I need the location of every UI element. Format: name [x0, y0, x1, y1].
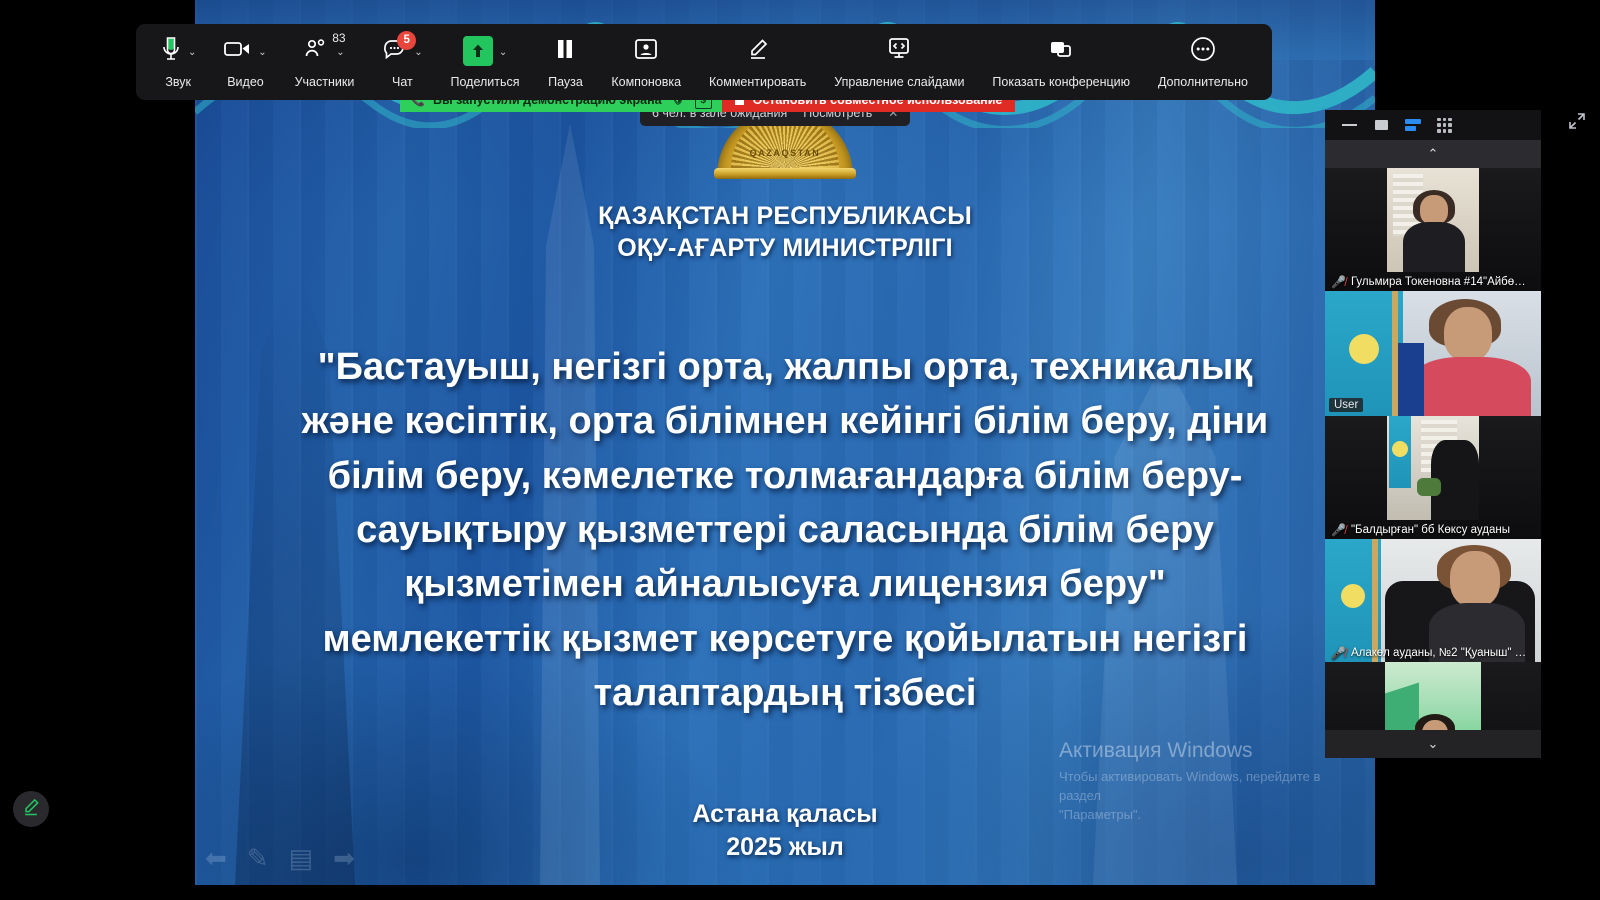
- mic-muted-icon: 🎤̸: [1331, 524, 1346, 536]
- toolbar-label: Дополнительно: [1158, 75, 1248, 89]
- next-arrow-icon: ➡: [333, 845, 355, 871]
- toolbar-item-pause[interactable]: Пауза: [541, 35, 589, 89]
- pause-icon[interactable]: [555, 38, 575, 65]
- toolbar-item-chat[interactable]: 5 ⌄ Чат: [376, 35, 428, 89]
- app-root: QAZAQSTAN ҚАЗАҚСТАН РЕСПУБЛИКАСЫ ОҚУ-АҒА…: [0, 0, 1600, 900]
- toolbar-item-video[interactable]: ⌄ Видео: [218, 35, 272, 89]
- self-user-tag: User: [1329, 398, 1363, 412]
- chevron-down-icon: ⌄: [1428, 736, 1439, 752]
- participant-name: 🎤̸ Гульмира Токеновна #14"Айбө…: [1325, 272, 1532, 291]
- toolbar-item-share[interactable]: ⌄ Поделиться: [445, 35, 526, 89]
- more-dots-icon[interactable]: [1190, 36, 1216, 67]
- maximize-button[interactable]: [1373, 118, 1389, 132]
- gallery-view-button[interactable]: [1437, 118, 1452, 133]
- camera-icon[interactable]: [224, 39, 252, 64]
- toolbar-label: Компоновка: [611, 75, 681, 89]
- chevron-down-icon[interactable]: ⌄: [258, 48, 266, 58]
- minimize-button[interactable]: [1341, 118, 1357, 132]
- prev-arrow-icon: ⬅: [205, 845, 227, 871]
- toolbar-label: Комментировать: [709, 75, 806, 89]
- participant-name: 🎤̸ Алакөл ауданы, №2 "Қуаныш" …: [1325, 643, 1532, 662]
- slide-title-line: сауықтыру қызметтері саласында білім бер…: [215, 503, 1355, 557]
- toolbar-label: Управление слайдами: [834, 75, 964, 89]
- participant-tile[interactable]: 🎤̸ Идрисова Жанылхан Балауса б…: [1325, 662, 1541, 730]
- participant-tile[interactable]: 🎤̸ Алакөл ауданы, №2 "Қуаныш" …: [1325, 539, 1541, 662]
- slide-control-icon[interactable]: [886, 37, 912, 66]
- toolbar-item-show-meeting[interactable]: Показать конференцию: [986, 35, 1136, 89]
- slide-header-line2: ОҚУ-АҒАРТУ МИНИСТРЛІГІ: [195, 232, 1375, 264]
- eraser-icon: ▤: [289, 845, 314, 871]
- slide-title-line: және кәсіптік, орта білімнен кейінгі біл…: [215, 394, 1355, 448]
- participant-name-text: Алакөл ауданы, №2 "Қуаныш" …: [1351, 647, 1526, 659]
- slide-title-line: мемлекеттік қызмет көрсетуге қойылатын н…: [215, 612, 1355, 666]
- chevron-down-icon[interactable]: ⌄: [188, 48, 196, 58]
- toolbar-label: Участники: [295, 75, 355, 89]
- slide-footer-line2: 2025 жыл: [195, 831, 1375, 864]
- microphone-icon[interactable]: [160, 36, 182, 67]
- toolbar-label: Показать конференцию: [992, 75, 1130, 89]
- toolbar-item-slide-control[interactable]: Управление слайдами: [828, 35, 970, 89]
- expand-diagonal-icon[interactable]: [1568, 112, 1586, 135]
- participant-tile-self[interactable]: User: [1325, 291, 1541, 416]
- speaker-view-button[interactable]: [1405, 119, 1421, 132]
- share-screen-icon[interactable]: [463, 36, 493, 66]
- filmstrip-scroll-up[interactable]: ⌃: [1325, 140, 1541, 168]
- toolbar-item-more[interactable]: Дополнительно: [1152, 35, 1254, 89]
- participant-name-text: Гульмира Токеновна #14"Айбө…: [1351, 276, 1526, 288]
- slide-footer: Астана қаласы 2025 жыл: [195, 798, 1375, 864]
- toolbar-label: Поделиться: [451, 75, 520, 89]
- chevron-up-icon: ⌃: [1428, 146, 1439, 162]
- layout-icon[interactable]: [634, 38, 658, 65]
- slide-title-line: "Бастауыш, негізгі орта, жалпы орта, тех…: [215, 340, 1355, 394]
- participant-name-text: "Балдырған" бб Көксу ауданы: [1351, 524, 1510, 536]
- slide-title-line: қызметімен айналысуға лицензия беру": [215, 557, 1355, 611]
- annotate-fab-button[interactable]: [13, 791, 49, 827]
- slide-nav-controls: ⬅ ✎ ▤ ➡: [205, 845, 355, 871]
- slide-footer-line1: Астана қаласы: [195, 798, 1375, 831]
- slide-title: "Бастауыш, негізгі орта, жалпы орта, тех…: [215, 340, 1355, 720]
- shared-screen-stage: QAZAQSTAN ҚАЗАҚСТАН РЕСПУБЛИКАСЫ ОҚУ-АҒА…: [195, 0, 1375, 885]
- participant-filmstrip: ⌃ 🎤̸ Гульмира Токеновна #14"Айбө…: [1325, 110, 1541, 758]
- filmstrip-tiles: 🎤̸ Гульмира Токеновна #14"Айбө… User: [1325, 168, 1541, 730]
- toolbar-label: Пауза: [548, 75, 583, 89]
- toolbar-label: Звук: [165, 75, 191, 89]
- annotate-pencil-icon[interactable]: [746, 37, 770, 66]
- pencil-icon: [21, 797, 41, 822]
- chat-bubble-icon[interactable]: 5: [382, 38, 408, 65]
- toolbar-item-layout[interactable]: Компоновка: [605, 35, 687, 89]
- chevron-down-icon[interactable]: ⌄: [414, 48, 422, 58]
- participants-icon[interactable]: [304, 38, 330, 65]
- toolbar-item-participants[interactable]: 83 ⌄ Участники: [289, 35, 361, 89]
- participant-name: 🎤̸ "Балдырған" бб Көксу ауданы: [1325, 520, 1516, 539]
- show-meeting-icon[interactable]: [1048, 38, 1074, 65]
- filmstrip-scroll-down[interactable]: ⌄: [1325, 730, 1541, 758]
- participant-tile[interactable]: 🎤̸ Гульмира Токеновна #14"Айбө…: [1325, 168, 1541, 291]
- slide-header-line1: ҚАЗАҚСТАН РЕСПУБЛИКАСЫ: [195, 200, 1375, 232]
- slide-title-line: білім беру, кәмелетке толмағандарға білі…: [215, 449, 1355, 503]
- meeting-toolbar: ⌄ Звук ⌄ Видео 83 ⌄ Участники: [136, 24, 1272, 100]
- slide-title-line: талаптардың тізбесі: [215, 666, 1355, 720]
- toolbar-item-audio[interactable]: ⌄ Звук: [154, 35, 202, 89]
- toolbar-label: Видео: [227, 75, 264, 89]
- participants-count: 83: [332, 31, 345, 45]
- filmstrip-window-bar: [1325, 110, 1541, 140]
- toolbar-item-annotate[interactable]: Комментировать: [703, 35, 812, 89]
- chevron-down-icon[interactable]: ⌄: [499, 48, 507, 58]
- pen-icon: ✎: [247, 845, 269, 871]
- participant-tile[interactable]: 🎤̸ "Балдырған" бб Көксу ауданы: [1325, 416, 1541, 539]
- slide-header: ҚАЗАҚСТАН РЕСПУБЛИКАСЫ ОҚУ-АҒАРТУ МИНИСТ…: [195, 200, 1375, 264]
- mic-muted-icon: 🎤̸: [1331, 647, 1346, 659]
- toolbar-label: Чат: [392, 75, 413, 89]
- mic-muted-icon: 🎤̸: [1331, 276, 1346, 288]
- chevron-down-icon[interactable]: ⌄: [336, 48, 344, 58]
- emblem-word: QAZAQSTAN: [750, 148, 821, 158]
